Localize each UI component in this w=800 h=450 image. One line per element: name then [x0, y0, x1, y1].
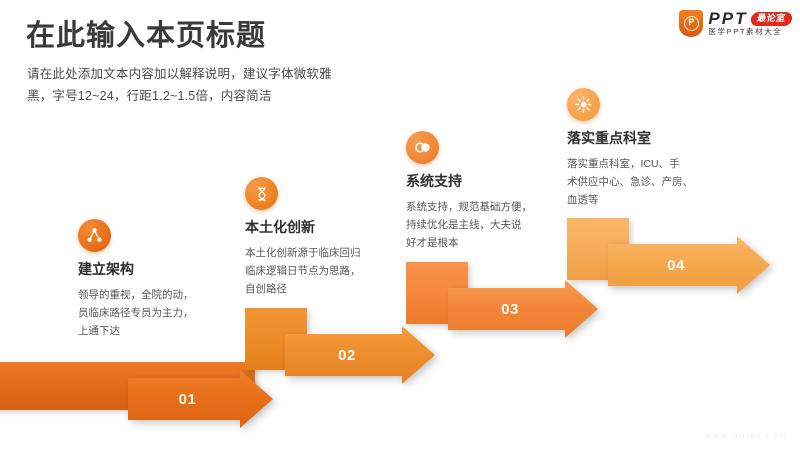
step-04-desc-line-1: 落实重点科室，ICU、手	[567, 155, 693, 173]
step-block-03: 系统支持 系统支持，规范基础方便， 持续优化是主线，大夫说 好才是根本	[406, 131, 532, 252]
arrow-03-shape	[448, 280, 598, 338]
sun-burst-glyph	[574, 95, 593, 114]
arrow-04[interactable]: 04	[608, 236, 770, 294]
step-block-02: 本土化创新 本土化创新源于临床回归 临床逻辑日节点为思路， 自创路径	[245, 177, 361, 298]
step-01-title: 建立架构	[78, 261, 194, 278]
step-01-desc: 领导的重视，全院的动， 员临床路径专员为主力， 上通下达	[78, 286, 194, 340]
step-02-desc-line-3: 自创路径	[245, 280, 361, 298]
network-nodes-glyph	[85, 226, 104, 245]
slide-canvas: 在此输入本页标题 请在此处添加文本内容加以解释说明，建议字体微软雅 黑，字号12…	[0, 0, 800, 450]
arrow-03[interactable]: 03	[448, 280, 598, 338]
step-block-04: 落实重点科室 落实重点科室，ICU、手 术供应中心、急诊、产房、 血透等	[567, 88, 693, 209]
dna-helix-icon	[245, 177, 278, 210]
step-03-desc-line-2: 持续优化是主线，大夫说	[406, 216, 532, 234]
overlapping-circles-glyph	[413, 138, 432, 157]
arrow-02[interactable]: 02	[285, 326, 435, 384]
step-03-desc: 系统支持，规范基础方便， 持续优化是主线，大夫说 好才是根本	[406, 198, 532, 252]
arrow-04-shape	[608, 236, 770, 294]
network-nodes-icon	[78, 219, 111, 252]
step-block-01: 建立架构 领导的重视，全院的动， 员临床路径专员为主力， 上通下达	[78, 219, 194, 340]
step-01-desc-line-1: 领导的重视，全院的动，	[78, 286, 194, 304]
sun-burst-icon	[567, 88, 600, 121]
step-04-desc-line-3: 血透等	[567, 191, 693, 209]
step-03-desc-line-1: 系统支持，规范基础方便，	[406, 198, 532, 216]
step-02-desc-line-2: 临床逻辑日节点为思路，	[245, 262, 361, 280]
step-04-desc-line-2: 术供应中心、急诊、产房、	[567, 173, 693, 191]
step-02-desc: 本土化创新源于临床回归 临床逻辑日节点为思路， 自创路径	[245, 244, 361, 298]
dna-helix-glyph	[253, 185, 271, 203]
arrow-01-shape	[128, 370, 273, 428]
site-watermark: www.ppter.com	[705, 431, 788, 440]
step-03-desc-line-3: 好才是根本	[406, 234, 532, 252]
step-02-title: 本土化创新	[245, 219, 361, 236]
overlapping-circles-icon	[406, 131, 439, 164]
arrow-01[interactable]: 01	[128, 370, 273, 428]
step-01-desc-line-2: 员临床路径专员为主力，	[78, 304, 194, 322]
step-04-desc: 落实重点科室，ICU、手 术供应中心、急诊、产房、 血透等	[567, 155, 693, 209]
step-04-title: 落实重点科室	[567, 130, 693, 147]
arrow-02-shape	[285, 326, 435, 384]
step-03-title: 系统支持	[406, 173, 532, 190]
step-01-desc-line-3: 上通下达	[78, 322, 194, 340]
step-02-desc-line-1: 本土化创新源于临床回归	[245, 244, 361, 262]
